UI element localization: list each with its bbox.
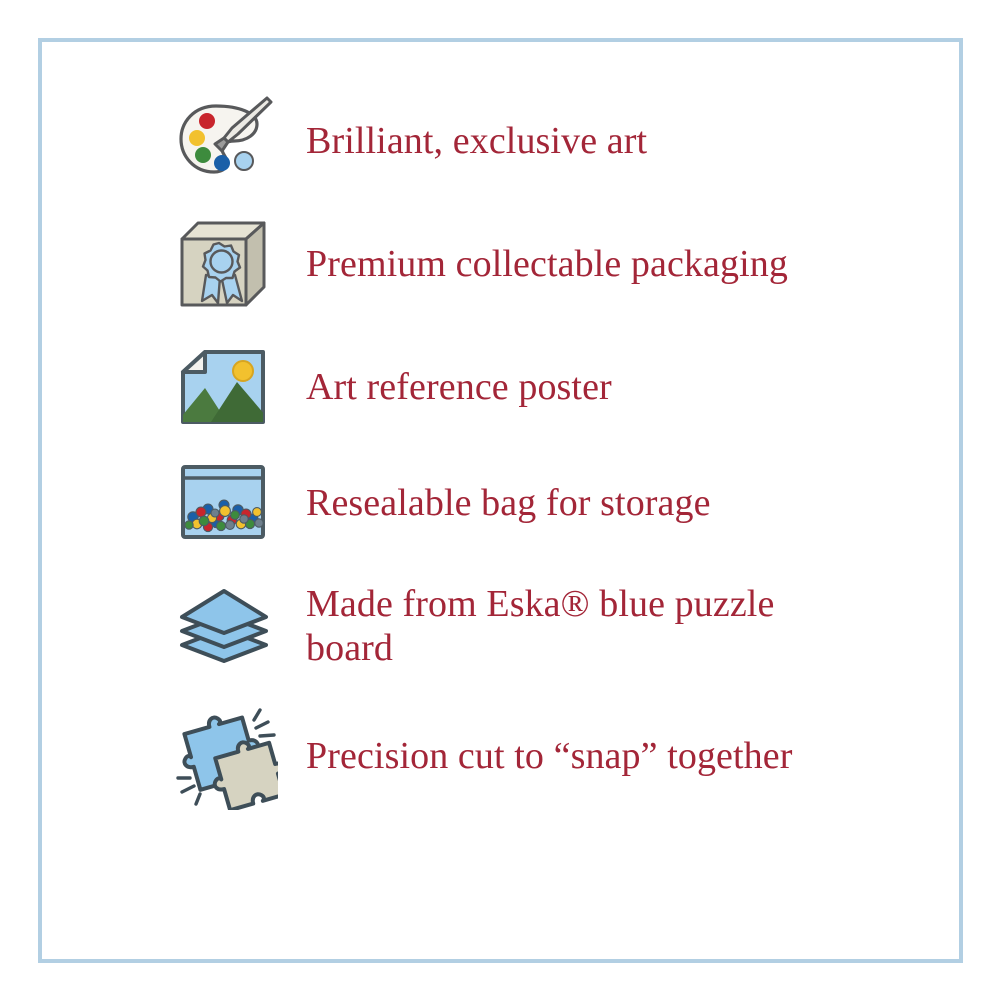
feature-item-resealable-bag: Resealable bag for storage — [168, 455, 923, 551]
art-palette-icon — [168, 93, 280, 189]
feature-label: Precision cut to “snap” together — [280, 734, 793, 778]
feature-item-art-palette: Brilliant, exclusive art — [168, 93, 923, 189]
feature-item-collectable-box: Premium collectable packaging — [168, 209, 923, 319]
feature-graphic-page: Brilliant, exclusive art — [0, 0, 1000, 1000]
puzzle-pieces-snap-icon — [168, 708, 280, 804]
feature-label: Made from Eska® blue puzzle board — [280, 582, 866, 670]
feature-label: Art reference poster — [280, 365, 612, 409]
puzzle-board-layers-icon — [168, 578, 280, 674]
feature-item-puzzle-board: Made from Eska® blue puzzle board — [168, 571, 923, 681]
collectable-box-icon — [168, 216, 280, 312]
feature-label: Premium collectable packaging — [280, 242, 788, 286]
resealable-bag-icon — [168, 455, 280, 551]
art-poster-icon — [168, 339, 280, 435]
feature-item-puzzle-snap: Precision cut to “snap” together — [168, 701, 923, 811]
feature-label: Resealable bag for storage — [280, 481, 711, 525]
feature-list: Brilliant, exclusive art — [38, 38, 963, 963]
feature-label: Brilliant, exclusive art — [280, 119, 647, 163]
feature-item-art-poster: Art reference poster — [168, 339, 923, 435]
